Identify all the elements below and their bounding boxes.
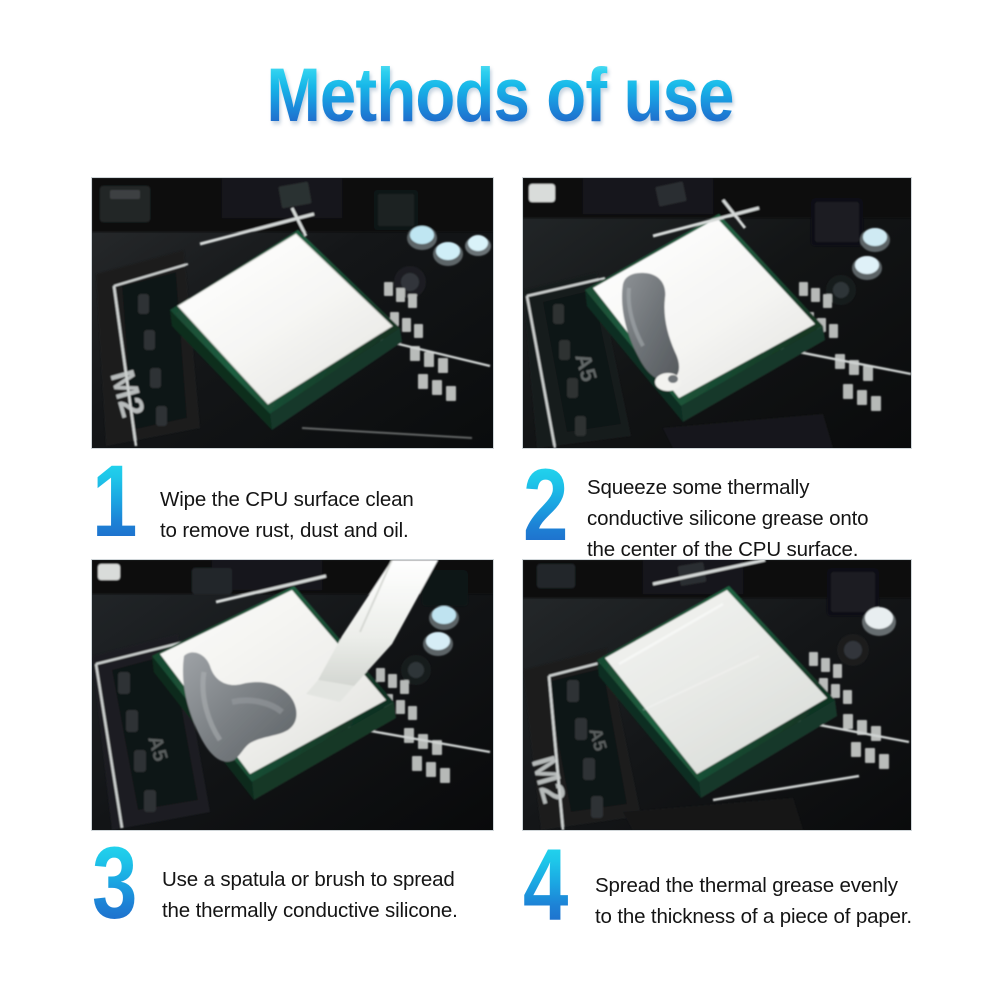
step-2-line-2: conductive silicone grease onto bbox=[587, 503, 923, 534]
step-4-text: Spread the thermal grease evenly to the … bbox=[585, 848, 933, 932]
step-4-line-2: to the thickness of a piece of paper. bbox=[595, 901, 933, 932]
step-3-line-1: Use a spatula or brush to spread bbox=[162, 864, 512, 895]
step-1-photo: M2 bbox=[92, 178, 493, 448]
step-4-caption: 4 Spread the thermal grease evenly to th… bbox=[523, 848, 933, 932]
step-1-number: 1 bbox=[92, 458, 142, 546]
step-4-number: 4 bbox=[523, 842, 573, 930]
step-1-line-2: to remove rust, dust and oil. bbox=[160, 515, 502, 546]
step-2-caption: 2 Squeeze some thermally conductive sili… bbox=[523, 468, 923, 565]
step-2-line-3: the center of the CPU surface. bbox=[587, 534, 923, 565]
step-3-number: 3 bbox=[92, 840, 142, 928]
step-4-photo: M2 A5 bbox=[523, 560, 911, 830]
step-2-number: 2 bbox=[523, 462, 573, 550]
step-1-line-1: Wipe the CPU surface clean bbox=[160, 484, 502, 515]
step-1-text: Wipe the CPU surface clean to remove rus… bbox=[154, 468, 502, 546]
step-3-photo: A5 bbox=[92, 560, 493, 830]
step-3-text: Use a spatula or brush to spread the the… bbox=[154, 848, 512, 926]
step-2-line-1: Squeeze some thermally bbox=[587, 472, 923, 503]
step-1-caption: 1 Wipe the CPU surface clean to remove r… bbox=[92, 468, 502, 546]
step-4-line-1: Spread the thermal grease evenly bbox=[595, 870, 933, 901]
step-3-caption: 3 Use a spatula or brush to spread the t… bbox=[92, 848, 512, 928]
step-2-photo: A5 bbox=[523, 178, 911, 448]
page-title: Methods of use bbox=[70, 58, 930, 134]
step-2-text: Squeeze some thermally conductive silico… bbox=[585, 468, 923, 565]
step-3-line-2: the thermally conductive silicone. bbox=[162, 895, 512, 926]
